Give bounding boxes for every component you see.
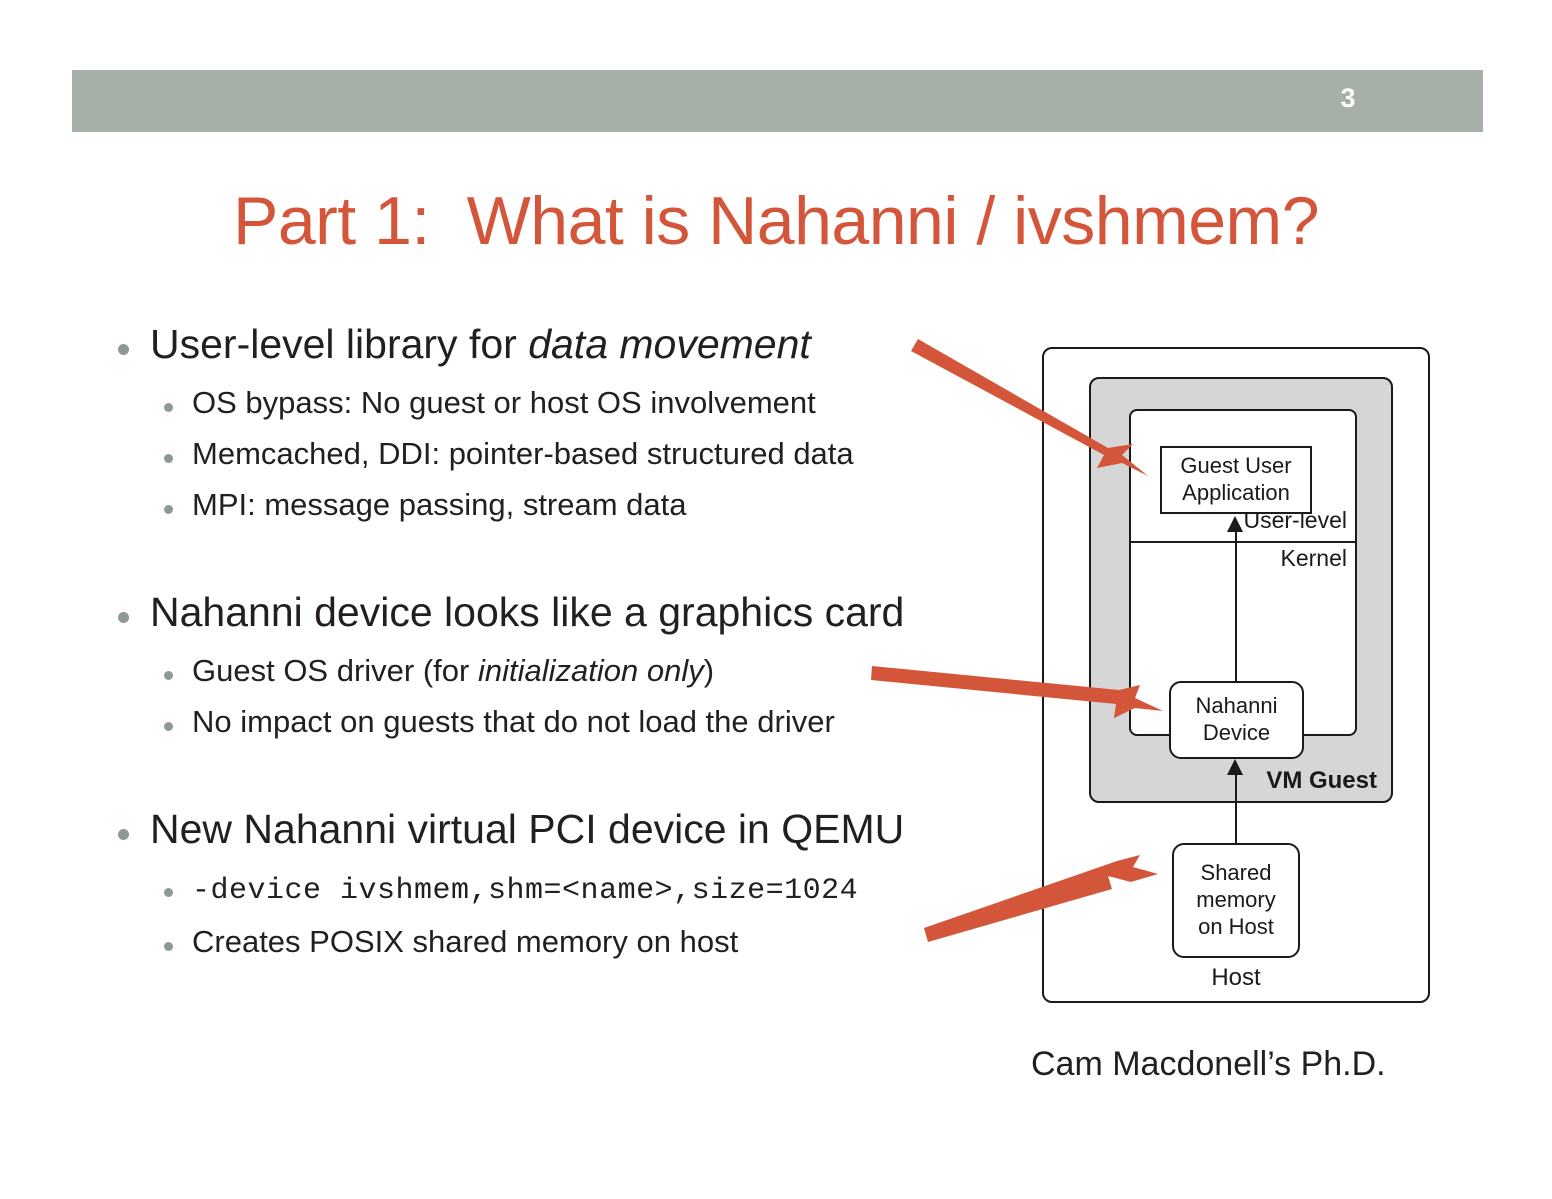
- pointer-arrow-to-shared-memory: [924, 855, 1158, 942]
- diagram-caption: Cam Macdonell’s Ph.D.: [1031, 1045, 1386, 1084]
- pointer-arrows-layer: [0, 0, 1552, 1199]
- pointer-arrow-to-guest-user-application: [911, 339, 1148, 476]
- pointer-arrow-to-nahanni-device: [871, 666, 1163, 718]
- slide: 3 Part 1: What is Nahanni / ivshmem? Use…: [0, 0, 1552, 1199]
